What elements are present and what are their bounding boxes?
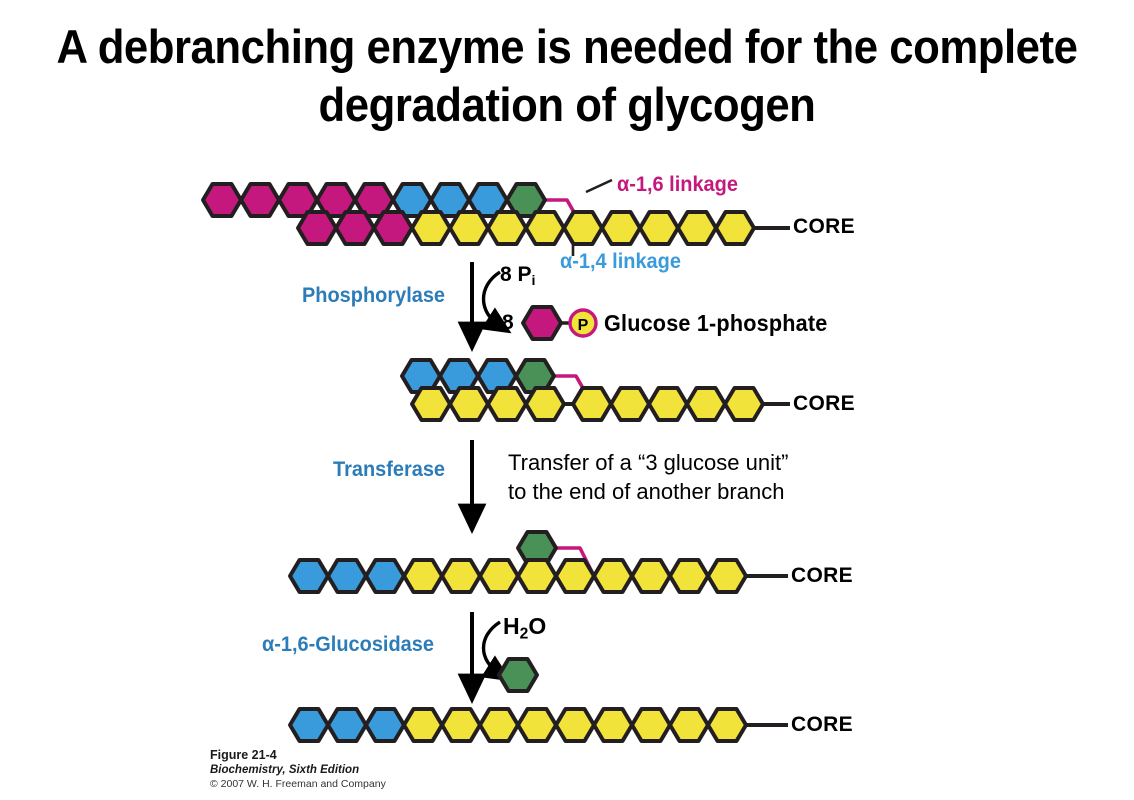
stage-2-after-phosphorylase (402, 360, 790, 420)
page-title: A debranching enzyme is needed for the c… (40, 18, 1095, 134)
glucose-1-phosphate-glyph: P (523, 307, 596, 339)
phosphate-circle (570, 310, 596, 336)
core-label-stage-3: CORE (791, 564, 853, 588)
stage-3-main-residues (290, 560, 746, 592)
stage-4-main-residues (290, 709, 746, 741)
substrate-pi: 8 Pi (500, 263, 536, 289)
substrate-water-o: O (528, 613, 546, 639)
reaction-phosphorylase-arrows (472, 262, 500, 336)
alpha-1-6-bond (554, 376, 592, 404)
figure-number: Figure 21-4 (210, 748, 386, 763)
core-label-stage-2: CORE (793, 392, 855, 416)
alpha-1-6-bond (545, 200, 583, 228)
substrate-pi-sub: i (532, 273, 536, 289)
stage-1-branch-residues (203, 184, 545, 216)
transfer-note: Transfer of a “3 glucose unit” to the en… (508, 448, 788, 506)
figure-source: Biochemistry, Sixth Edition (210, 763, 386, 777)
stage-2-branch-residues (402, 360, 554, 392)
alpha-1-6-linkage-label: α-1,6 linkage (617, 173, 738, 197)
enzyme-label-phosphorylase: Phosphorylase (302, 284, 445, 308)
alpha-1-6-leader (586, 180, 612, 192)
enzyme-label-glucosidase: α-1,6-Glucosidase (262, 633, 434, 657)
product-count: 8 (502, 311, 514, 335)
stage-2-main-residues (412, 388, 763, 420)
stage-1-main-residues (298, 212, 754, 244)
glucose-1-phosphate-label: Glucose 1-phosphate (604, 310, 827, 337)
figure-credit: Figure 21-4 Biochemistry, Sixth Edition … (210, 748, 386, 791)
substrate-water: H2O (503, 613, 546, 643)
alpha-1-4-linkage-label: α-1,4 linkage (560, 250, 681, 274)
transfer-note-line-2: to the end of another branch (508, 477, 788, 506)
figure-copyright: © 2007 W. H. Freeman and Company (210, 777, 386, 791)
released-glucose (499, 659, 537, 691)
alpha-1-6-bond (556, 548, 594, 576)
substrate-water-h: H (503, 613, 520, 639)
core-label-stage-4: CORE (791, 713, 853, 737)
stage-3-after-transferase (290, 532, 788, 592)
core-label-stage-1: CORE (793, 215, 855, 239)
enzyme-label-transferase: Transferase (333, 458, 445, 482)
transfer-note-line-1: Transfer of a “3 glucose unit” (508, 448, 788, 477)
phosphate-letter: P (578, 317, 589, 334)
substrate-pi-main: 8 P (500, 263, 532, 286)
stage-4-debranched-chain (290, 709, 788, 741)
slide-canvas: A debranching enzyme is needed for the c… (0, 0, 1134, 800)
stage-3-branch-residues (518, 532, 556, 564)
